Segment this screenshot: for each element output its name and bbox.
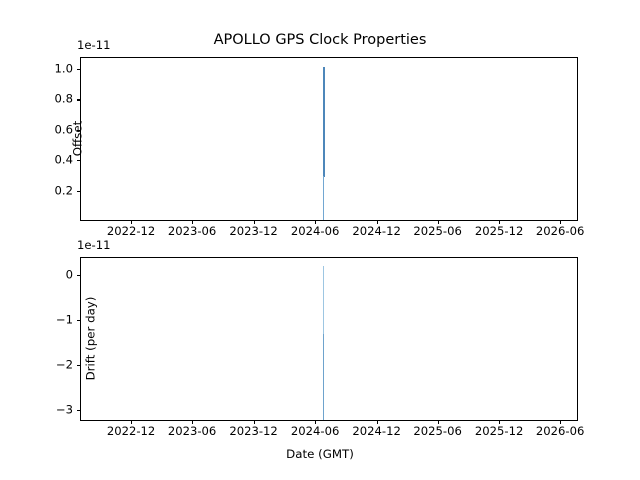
offset-x-ticklabel: 2026-06 (536, 225, 584, 238)
offset-x-ticklabel: 2023-12 (229, 225, 277, 238)
drift-y-tick (77, 275, 81, 276)
drift-axis-exponent-label: 1e-11 (77, 239, 110, 252)
offset-y-ticklabel: 0.2 (55, 184, 73, 197)
drift-y-tick (77, 365, 81, 366)
offset-y-ticklabel: 0.4 (55, 154, 73, 167)
offset-y-ticklabel: 0.6 (55, 123, 73, 136)
drift-plot-axes: 1e-11 Drift (per day) 0 −1 −2 −3 2022-12… (80, 257, 578, 421)
drift-data-line (323, 266, 325, 336)
drift-y-tick (77, 410, 81, 411)
offset-y-tick (77, 160, 81, 161)
drift-x-ticklabel: 2024-06 (291, 425, 339, 438)
offset-data-line-tail (323, 176, 324, 220)
drift-x-ticklabel: 2023-06 (168, 425, 216, 438)
offset-y-ticklabel: 1.0 (55, 63, 73, 76)
offset-axis-exponent-label: 1e-11 (77, 39, 110, 52)
drift-y-ticklabel: −2 (56, 359, 73, 372)
offset-x-ticklabel: 2025-12 (475, 225, 523, 238)
drift-x-ticklabel: 2025-12 (475, 425, 523, 438)
offset-x-ticklabel: 2023-06 (168, 225, 216, 238)
drift-x-ticklabel: 2022-12 (107, 425, 155, 438)
drift-x-ticklabel: 2026-06 (536, 425, 584, 438)
drift-y-ticklabel: −1 (56, 314, 73, 327)
drift-y-tick (77, 320, 81, 321)
drift-plot-area (81, 258, 577, 420)
drift-x-ticklabel: 2023-12 (229, 425, 277, 438)
drift-data-line-tail (323, 334, 324, 420)
offset-plot-axes: 1e-11 Offset 1.0 0.8 0.6 0.4 0.2 2022-12… (80, 57, 578, 221)
drift-x-ticklabel: 2025-06 (413, 425, 461, 438)
offset-y-tick (77, 69, 81, 70)
offset-y-tick (77, 130, 81, 131)
x-axis-label: Date (GMT) (0, 447, 640, 461)
offset-x-ticklabel: 2024-12 (352, 225, 400, 238)
offset-x-ticklabel: 2022-12 (107, 225, 155, 238)
offset-y-ticklabel: 0.8 (55, 93, 73, 106)
drift-y-ticklabel: 0 (66, 269, 73, 282)
offset-y-tick (77, 191, 81, 192)
offset-x-ticklabel: 2025-06 (413, 225, 461, 238)
offset-data-line (323, 67, 325, 177)
drift-y-ticklabel: −3 (56, 403, 73, 416)
drift-x-ticklabel: 2024-12 (352, 425, 400, 438)
offset-x-ticklabel: 2024-06 (291, 225, 339, 238)
matplotlib-figure: APOLLO GPS Clock Properties 1e-11 Offset… (0, 0, 640, 480)
offset-plot-area (81, 58, 577, 220)
offset-y-tick (77, 99, 81, 100)
